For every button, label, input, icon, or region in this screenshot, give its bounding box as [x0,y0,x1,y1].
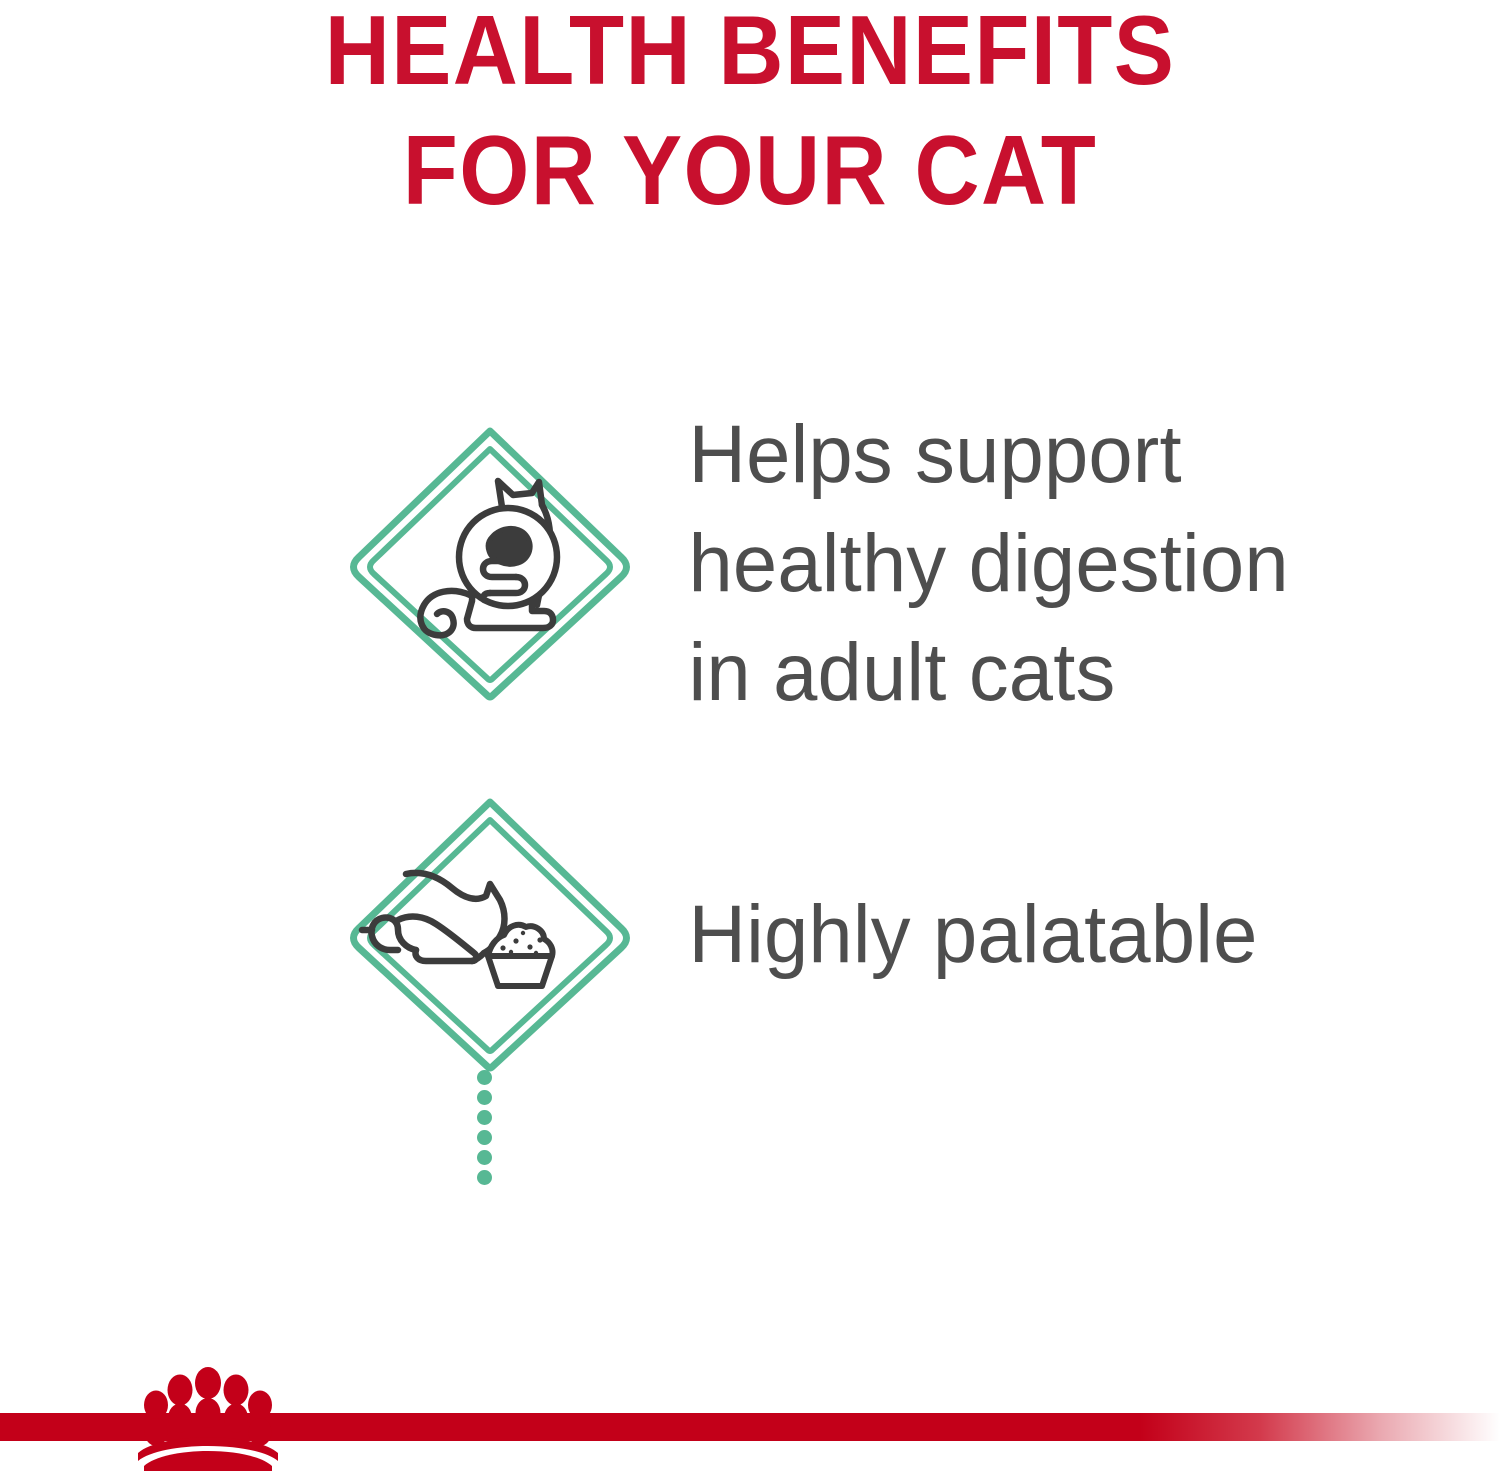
connector-dot [477,1110,492,1125]
benefit-icon-cell [340,419,640,709]
page-title-line-1: HEALTH BENEFITS [60,0,1440,110]
benefit-text-palatable: Highly palatable [640,880,1474,989]
cat-digestion-icon [340,419,640,709]
connector-dot [477,1170,492,1185]
benefit-text-digestion: Helps support healthy digestion in adult… [640,400,1474,727]
benefit-icon-cell [340,790,640,1080]
page-title: HEALTH BENEFITS FOR YOUR CAT [60,0,1440,230]
benefit-text-line: Helps support [689,409,1182,500]
benefit-text-line: Highly palatable [689,889,1258,980]
royal-canin-crown-logo [118,1360,298,1471]
connector-dot [477,1150,492,1165]
dotted-connector [477,1070,499,1180]
benefit-text-line: healthy digestion [689,518,1289,609]
page-title-line-2: FOR YOUR CAT [60,110,1440,230]
benefit-item-digestion: Helps support healthy digestion in adult… [0,400,1500,727]
benefit-item-palatable: Highly palatable [0,790,1500,1080]
cat-eating-bowl-icon [340,790,640,1080]
footer [0,1360,1500,1471]
benefit-text-line: in adult cats [689,627,1116,718]
connector-dot [477,1130,492,1145]
connector-dot [477,1090,492,1105]
